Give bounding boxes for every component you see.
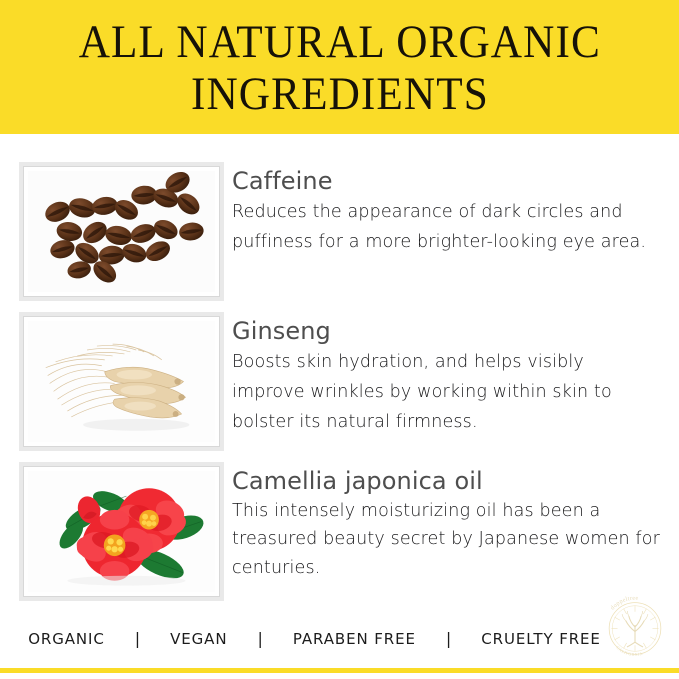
- badge-organic: ORGANIC: [28, 630, 105, 648]
- thumbnail-frame-caffeine: [23, 166, 220, 297]
- ingredient-description: This intensely moisturizing oil has been…: [232, 497, 661, 582]
- ingredient-text-block: Ginseng Boosts skin hydration, and helps…: [220, 316, 661, 437]
- ginseng-root-photo: [28, 321, 215, 442]
- ingredient-description: Reduces the appearance of dark circles a…: [232, 197, 661, 257]
- coffee-beans-photo: [28, 171, 215, 292]
- ingredient-name: Ginseng: [232, 318, 661, 345]
- badge-paraben-free: PARABEN FREE: [293, 630, 416, 648]
- badge-vegan: VEGAN: [170, 630, 227, 648]
- thumbnail-frame-ginseng: [23, 316, 220, 447]
- footer-accent-bar: [0, 668, 679, 673]
- badge-cruelty-free: CRUELTY FREE: [481, 630, 601, 648]
- header-banner: ALL NATURAL ORGANIC INGREDIENTS: [0, 0, 679, 134]
- page-title-line-2: INGREDIENTS: [191, 71, 489, 119]
- thumbnail-frame-camellia: [23, 466, 220, 597]
- ingredient-text-block: Camellia japonica oil This intensely moi…: [220, 466, 661, 582]
- badge-separator: |: [416, 631, 481, 647]
- ingredient-item-camellia: Camellia japonica oil This intensely moi…: [0, 466, 679, 597]
- camellia-flower-photo: [28, 471, 215, 592]
- ingredient-name: Camellia japonica oil: [232, 468, 661, 495]
- ingredient-text-block: Caffeine Reduces the appearance of dark …: [220, 166, 661, 257]
- page-title-line-1: ALL NATURAL ORGANIC: [78, 19, 600, 67]
- badge-separator: |: [227, 631, 292, 647]
- ingredient-name: Caffeine: [232, 168, 661, 195]
- ingredients-list: Caffeine Reduces the appearance of dark …: [0, 134, 679, 679]
- certification-badges: ORGANIC | VEGAN | PARABEN FREE | CRUELTY…: [0, 617, 679, 661]
- ingredients-infographic: ALL NATURAL ORGANIC INGREDIENTS: [0, 0, 679, 679]
- ingredient-item-caffeine: Caffeine Reduces the appearance of dark …: [0, 166, 679, 297]
- ingredient-item-ginseng: Ginseng Boosts skin hydration, and helps…: [0, 316, 679, 447]
- ingredient-description: Boosts skin hydration, and helps visibly…: [232, 347, 661, 437]
- footer: ORGANIC | VEGAN | PARABEN FREE | CRUELTY…: [0, 617, 679, 679]
- badge-separator: |: [105, 631, 170, 647]
